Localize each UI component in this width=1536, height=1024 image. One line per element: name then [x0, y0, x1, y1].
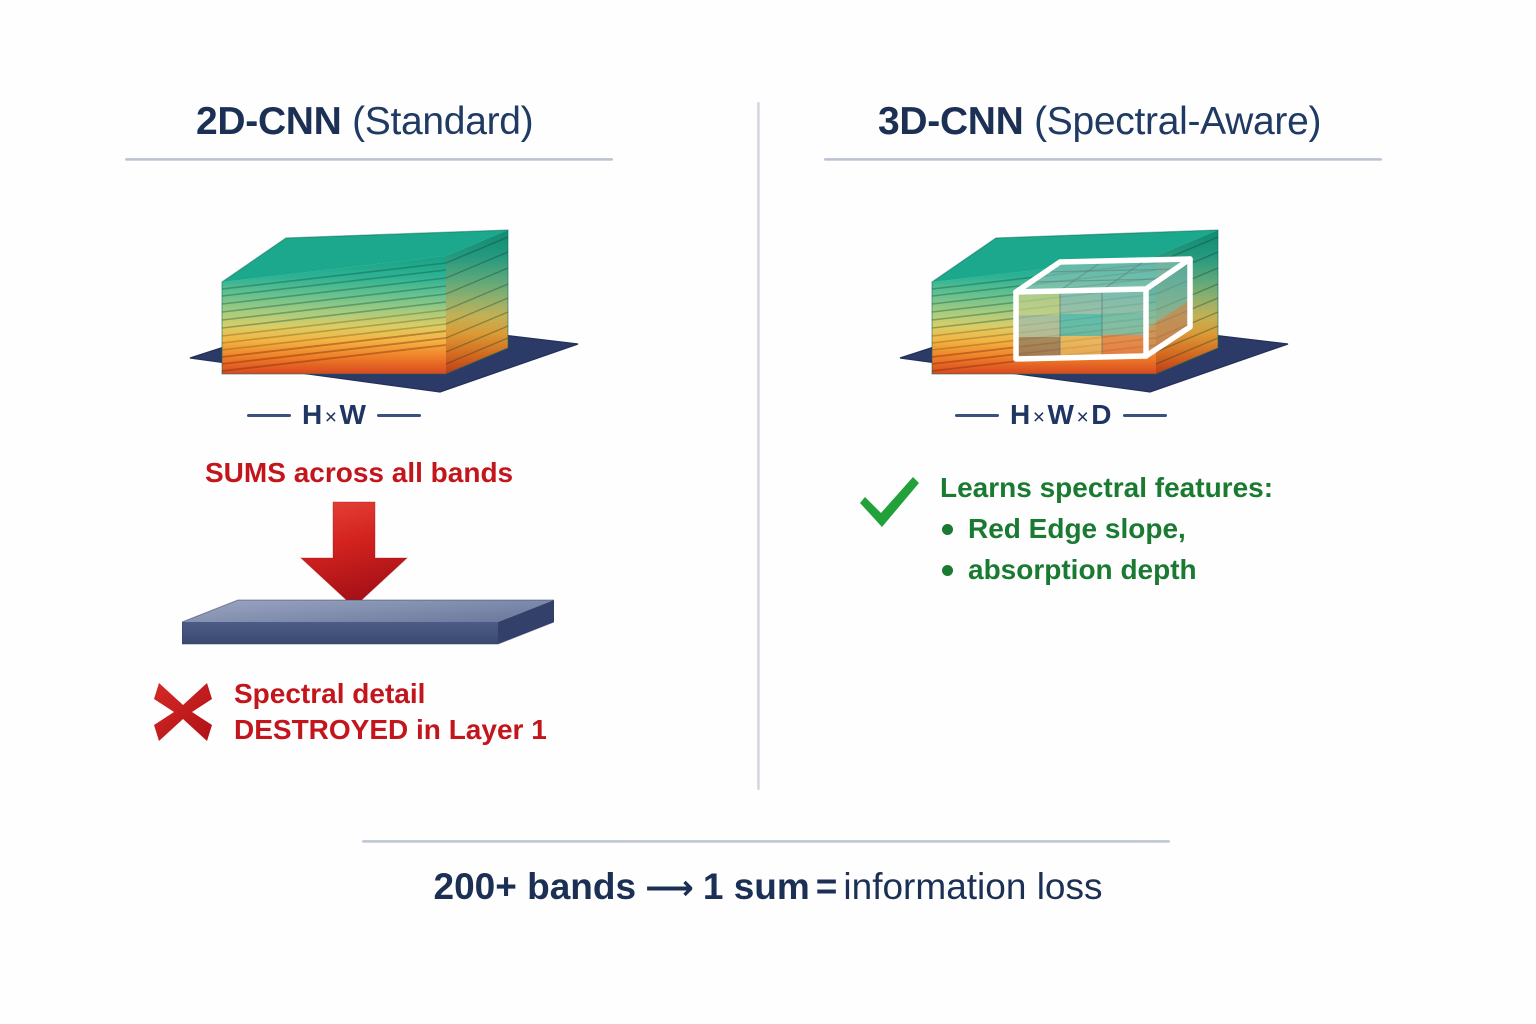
- bullet-text: Red Edge slope,: [968, 513, 1186, 544]
- check-icon: [856, 476, 922, 532]
- footer-sum: 1 sum: [703, 866, 810, 907]
- sums-rest-text: across all bands: [294, 457, 513, 488]
- left-panel-title: 2D-CNN (Standard): [196, 100, 533, 144]
- destroyed-line-2: DESTROYED in Layer 1: [234, 712, 547, 748]
- destroyed-text-lines: Spectral detail DESTROYED in Layer 1: [234, 676, 547, 748]
- destroyed-line-1: Spectral detail: [234, 676, 547, 712]
- dim-dash-right: [377, 414, 421, 417]
- left-title-light: (Standard): [352, 100, 533, 143]
- footer-equals: =: [810, 866, 844, 907]
- sums-bold-word: SUMS: [205, 457, 286, 488]
- hyperspectral-cube-2d: [178, 196, 598, 396]
- dim-dash-left: [247, 414, 291, 417]
- learns-heading: Learns spectral features:: [940, 470, 1273, 505]
- footer-bands: 200+ bands: [434, 866, 637, 907]
- learns-text-content: Learns spectral features: Red Edge slope…: [940, 470, 1273, 590]
- footer-rule: [362, 840, 1170, 843]
- right-title-rule: [824, 158, 1382, 161]
- learns-spectral-features-annotation: Learns spectral features: Red Edge slope…: [856, 470, 1273, 590]
- cross-icon: [152, 681, 214, 743]
- right-panel-title: 3D-CNN (Spectral-Aware): [878, 100, 1321, 144]
- spectral-destroyed-annotation: Spectral detail DESTROYED in Layer 1: [152, 676, 547, 748]
- footer-caption: 200+ bands⟶1 sum=information loss: [0, 866, 1536, 908]
- right-title-light: (Spectral-Aware): [1034, 100, 1321, 143]
- destroyed-bold-word: DESTROYED: [234, 714, 408, 745]
- spectral-features-list: Red Edge slope, absorption depth: [940, 509, 1273, 590]
- flattened-feature-map-slab: [182, 592, 554, 654]
- bullet-text: absorption depth: [968, 554, 1197, 585]
- dimension-label-hw: H×W: [247, 399, 421, 431]
- slab-top-face: [182, 600, 554, 622]
- diagram-canvas: 2D-CNN (Standard) 3D-CNN (Spectral-Aware…: [0, 0, 1536, 1024]
- panel-divider: [757, 102, 760, 790]
- bullet-dot-icon: [942, 565, 953, 576]
- destroyed-rest-text: in Layer 1: [416, 714, 547, 745]
- dim-text-hwd: H×W×D: [1010, 399, 1112, 431]
- footer-result: information loss: [843, 866, 1102, 907]
- slab-front-face: [182, 622, 498, 644]
- left-title-rule: [125, 158, 613, 161]
- left-title-strong: 2D-CNN: [196, 100, 342, 143]
- kernel-voxel-cells: [1018, 291, 1145, 358]
- hyperspectral-cube-3d: [888, 196, 1308, 396]
- sums-annotation: SUMS across all bands: [205, 457, 513, 489]
- dim-dash-right: [1123, 414, 1167, 417]
- list-item: Red Edge slope,: [968, 509, 1273, 550]
- dim-text-hw: H×W: [302, 399, 366, 431]
- kernel-box-3d: [1016, 259, 1190, 359]
- dim-dash-left: [955, 414, 999, 417]
- bullet-dot-icon: [942, 524, 953, 535]
- right-arrow-icon: ⟶: [636, 869, 703, 907]
- right-title-strong: 3D-CNN: [878, 100, 1024, 143]
- list-item: absorption depth: [968, 550, 1273, 591]
- dimension-label-hwd: H×W×D: [955, 399, 1167, 431]
